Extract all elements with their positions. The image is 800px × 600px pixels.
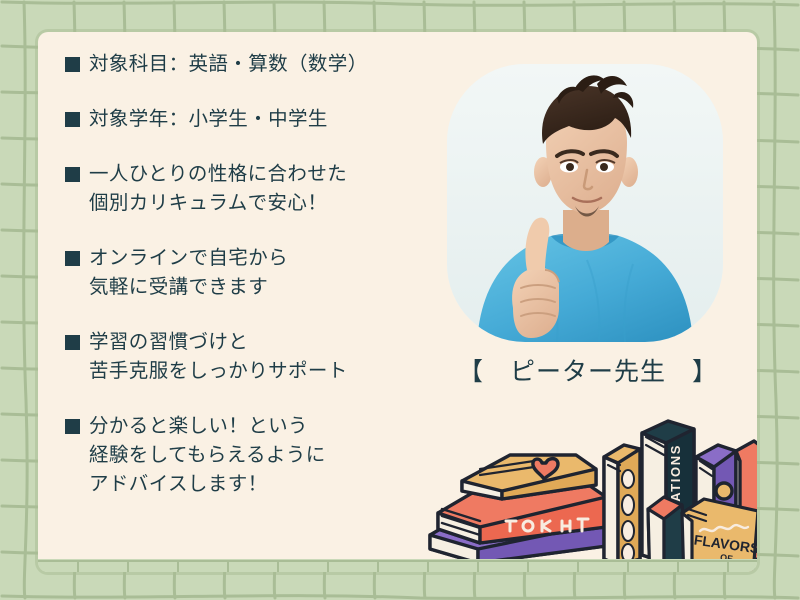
bullet-text: 分かると楽しい！という 経験をしてもらえるように アドバイスします！ (89, 412, 326, 499)
book-standing-tan (604, 445, 640, 565)
square-bullet-icon (65, 419, 80, 434)
list-item: 対象科目：英語・算数（数学） (65, 50, 465, 79)
bullet-text: オンラインで自宅から 気軽に受講できます (89, 244, 288, 302)
teacher-portrait-photo (447, 64, 723, 342)
bullet-text: 対象学年：小学生・中学生 (89, 105, 328, 134)
square-bullet-icon (65, 251, 80, 266)
list-item: 学習の習慣づけと 苦手克服をしっかりサポート (65, 328, 465, 386)
square-bullet-icon (65, 335, 80, 350)
bullet-text: 学習の習慣づけと 苦手克服をしっかりサポート (89, 328, 348, 386)
teacher-nameplate: 【 ピーター先生 】 (418, 352, 757, 388)
bullet-text: 一人ひとりの性格に合わせた 個別カリキュラムで安心！ (89, 160, 347, 218)
list-item: オンラインで自宅から 気軽に受講できます (65, 244, 465, 302)
list-item: 一人ひとりの性格に合わせた 個別カリキュラムで安心！ (65, 160, 465, 218)
feature-bullet-list: 対象科目：英語・算数（数学） 対象学年：小学生・中学生 一人ひとりの性格に合わせ… (65, 50, 465, 499)
bullet-text: 対象科目：英語・算数（数学） (89, 50, 368, 79)
list-item: 分かると楽しい！という 経験をしてもらえるように アドバイスします！ (65, 412, 465, 499)
slide-canvas: 対象科目：英語・算数（数学） 対象学年：小学生・中学生 一人ひとりの性格に合わせ… (0, 0, 800, 600)
list-item: 対象学年：小学生・中学生 (65, 105, 465, 134)
square-bullet-icon (65, 167, 80, 182)
square-bullet-icon (65, 57, 80, 72)
square-bullet-icon (65, 112, 80, 127)
content-card: 対象科目：英語・算数（数学） 対象学年：小学生・中学生 一人ひとりの性格に合わせ… (38, 32, 757, 572)
shelf-strip (38, 559, 757, 572)
